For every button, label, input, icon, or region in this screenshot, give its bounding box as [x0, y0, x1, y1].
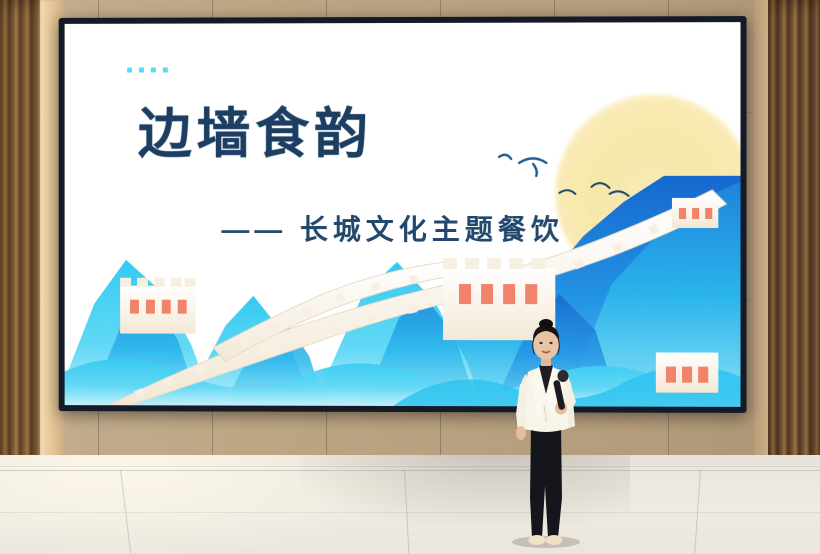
slide-title: 边墙食韵 [138, 107, 373, 161]
shoe [546, 535, 563, 545]
decor-dots [127, 67, 168, 72]
hair-bun [539, 319, 553, 329]
decor-dot [127, 68, 132, 73]
great-wall-mountains-illustration [65, 176, 741, 407]
shoe [529, 535, 546, 545]
led-screen[interactable]: 边墙食韵 —— 长城文化主题餐饮 [65, 22, 741, 407]
floor-grout-line [0, 512, 820, 513]
decor-dot [139, 68, 144, 73]
watchtower [672, 198, 718, 228]
wall-glow-strip-right [754, 0, 768, 470]
floor-grout-line [0, 466, 820, 467]
hand [516, 426, 526, 440]
stage-photo: 边墙食韵 —— 长城文化主题餐饮 [0, 0, 820, 554]
presenter [498, 318, 594, 548]
decor-dot [151, 67, 156, 72]
floor-grout-line [0, 470, 820, 471]
decor-dot [163, 67, 168, 72]
watchtower [120, 278, 195, 334]
led-screen-bezel: 边墙食韵 —— 长城文化主题餐饮 [59, 16, 747, 413]
watchtower [656, 352, 718, 392]
trousers [530, 426, 562, 538]
